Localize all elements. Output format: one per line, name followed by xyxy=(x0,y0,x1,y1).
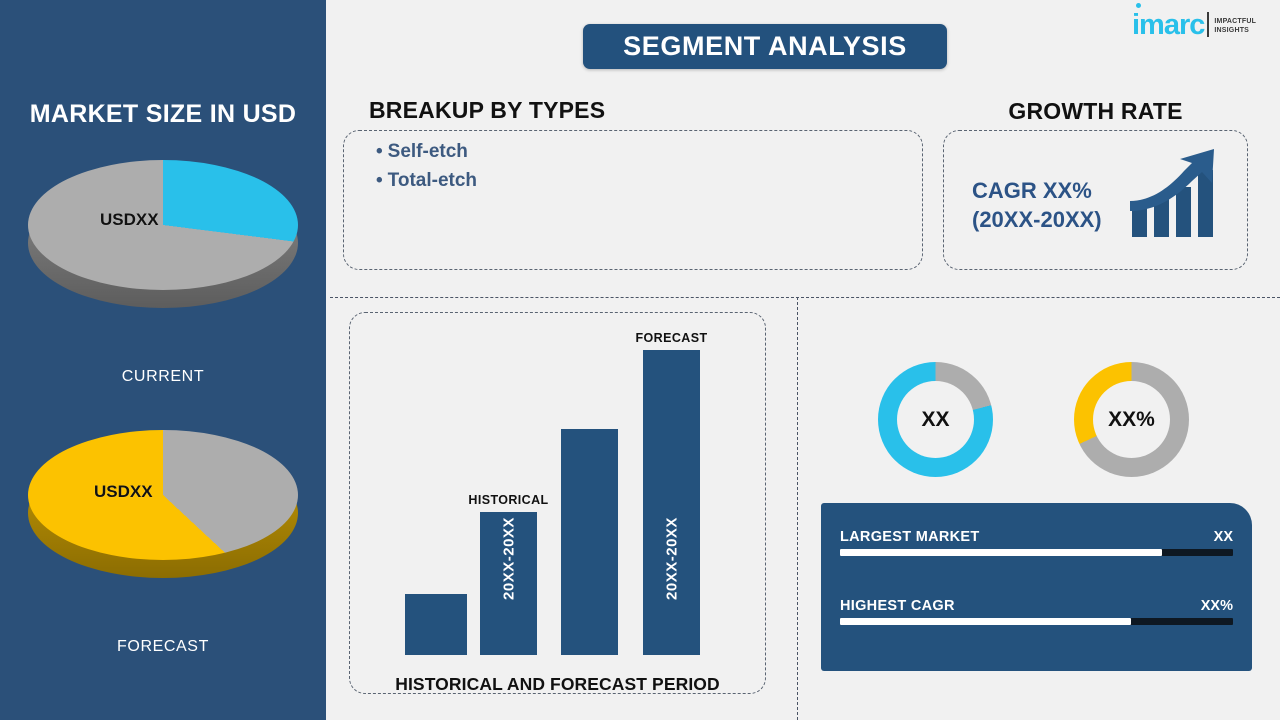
bar-1-annotation: HISTORICAL xyxy=(468,493,548,507)
cagr-line2: (20XX-20XX) xyxy=(972,205,1102,234)
stat-track-0 xyxy=(840,549,1233,556)
type-item-0-label: Self-etch xyxy=(388,141,468,162)
type-item-1-label: Total-etch xyxy=(388,170,477,191)
pie-chart-current: USDXX CURRENT xyxy=(0,160,326,290)
logo-tagline: IMPACTFUL INSIGHTS xyxy=(1214,17,1256,35)
stat-label-1: HIGHEST CAGR xyxy=(840,598,955,614)
logo-wordmark: imarc xyxy=(1132,12,1204,38)
bullet-icon: • xyxy=(376,141,383,162)
donut-chart-1-label: XX% xyxy=(1093,381,1170,458)
donut-chart-0: XX xyxy=(878,362,993,477)
bar-0 xyxy=(405,594,467,655)
pie-chart-forecast: USDXX FORECAST xyxy=(0,430,326,560)
bullet-icon: • xyxy=(376,170,383,191)
imarc-logo: imarc IMPACTFUL INSIGHTS xyxy=(1132,12,1256,38)
stat-row-highest-cagr: HIGHEST CAGR XX% xyxy=(840,598,1233,625)
pie-forecast-label: USDXX xyxy=(94,482,153,502)
type-item-1: •Total-etch xyxy=(376,170,477,192)
stat-value-1: XX% xyxy=(1201,598,1233,614)
logo-tagline-line2: INSIGHTS xyxy=(1214,26,1256,35)
stat-fill-1 xyxy=(840,618,1131,625)
pie-current-label: USDXX xyxy=(100,210,159,230)
type-item-0: •Self-etch xyxy=(376,141,468,163)
bar-3-inner-label: 20XX-20XX xyxy=(663,517,680,600)
stat-fill-0 xyxy=(840,549,1162,556)
logo-dot-icon xyxy=(1136,3,1141,8)
divider-vertical xyxy=(797,297,798,720)
pie-current-caption: CURRENT xyxy=(0,368,326,386)
growth-heading: GROWTH RATE xyxy=(942,98,1249,125)
bar-chart: 20XX-20XX20XX-20XXHISTORICALFORECAST xyxy=(349,312,766,694)
infographic-canvas: MARKET SIZE IN USD USDXX CURRENT USDXX F… xyxy=(0,0,1280,720)
stat-track-1 xyxy=(840,618,1233,625)
bar-3-annotation: FORECAST xyxy=(636,331,708,345)
pie-forecast-top xyxy=(28,430,298,560)
stat-label-0: LARGEST MARKET xyxy=(840,529,980,545)
bar-1: 20XX-20XX xyxy=(480,512,537,655)
logo-tagline-line1: IMPACTFUL xyxy=(1214,17,1256,26)
stat-row-largest-market: LARGEST MARKET XX xyxy=(840,529,1233,556)
stat-value-0: XX xyxy=(1214,529,1233,545)
pie-current-top xyxy=(28,160,298,290)
sidebar-title: MARKET SIZE IN USD xyxy=(0,100,326,129)
bar-3: 20XX-20XX xyxy=(643,350,700,655)
logo-divider xyxy=(1207,12,1209,37)
donut-chart-1: XX% xyxy=(1074,362,1189,477)
bar-2 xyxy=(561,429,618,655)
bar-chart-caption: HISTORICAL AND FORECAST PERIOD xyxy=(349,674,766,695)
divider-horizontal xyxy=(330,297,1280,298)
types-heading: BREAKUP BY TYPES xyxy=(369,97,605,124)
stats-panel: LARGEST MARKET XX HIGHEST CAGR XX% xyxy=(821,503,1252,671)
pie-forecast-caption: FORECAST xyxy=(0,638,326,656)
page-title: SEGMENT ANALYSIS xyxy=(583,24,947,69)
bar-1-inner-label: 20XX-20XX xyxy=(500,517,517,600)
cagr-text: CAGR XX% (20XX-20XX) xyxy=(972,176,1102,234)
donut-chart-0-label: XX xyxy=(897,381,974,458)
cagr-line1: CAGR XX% xyxy=(972,176,1102,205)
growth-arrow-chart-icon xyxy=(1128,145,1228,245)
sidebar: MARKET SIZE IN USD USDXX CURRENT USDXX F… xyxy=(0,0,326,720)
